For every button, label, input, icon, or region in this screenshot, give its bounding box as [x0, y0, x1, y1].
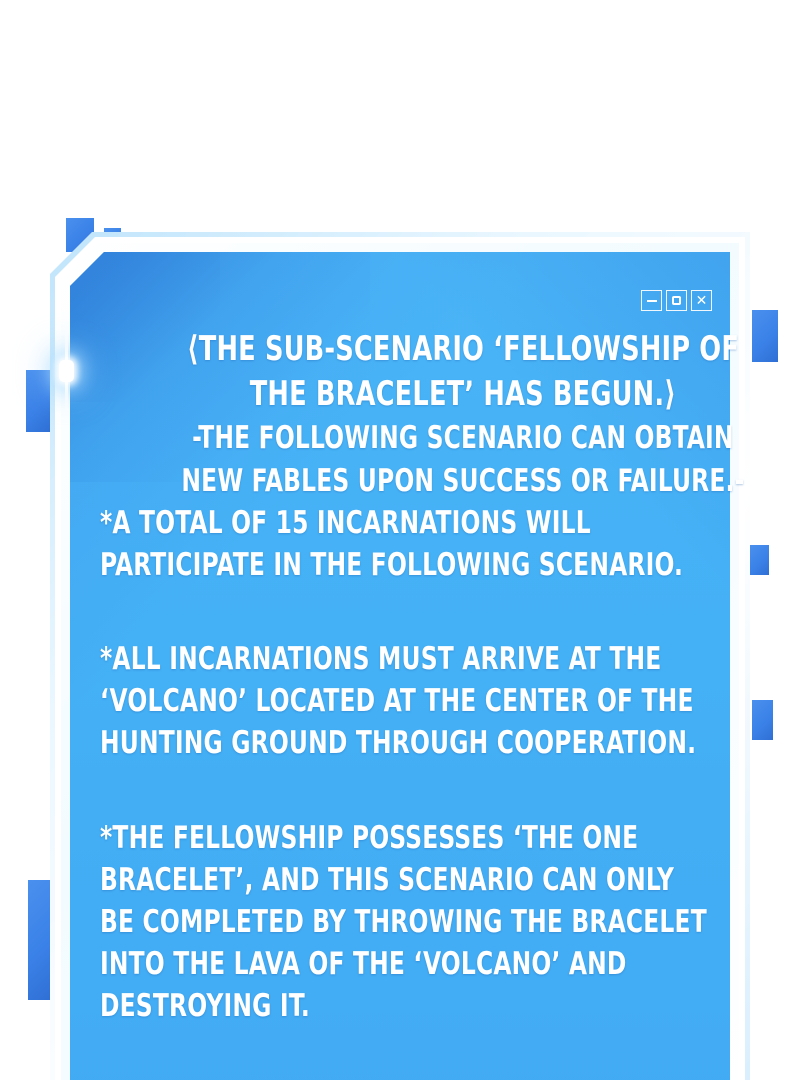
maximize-icon — [672, 296, 681, 305]
decor-tab-right-lower — [752, 700, 773, 740]
decor-tab-left-lower — [28, 880, 52, 1000]
decor-tab-right-mid — [750, 545, 769, 575]
minimize-button[interactable] — [641, 290, 662, 311]
message-bullet: *ALL INCARNATIONS MUST ARRIVE AT THE ‘VO… — [100, 638, 710, 764]
message-body: ⟨THE SUB-SCENARIO ‘FELLOWSHIP OF THE BRA… — [100, 327, 710, 1027]
message-bullet: *A TOTAL OF 15 INCARNATIONS WILL PARTICI… — [100, 502, 710, 586]
close-button[interactable]: ✕ — [691, 290, 712, 311]
window-controls: ✕ — [641, 290, 712, 311]
decor-tab-left-upper — [26, 370, 50, 432]
minimize-icon — [647, 300, 657, 302]
border-glow-node-icon — [59, 360, 74, 382]
hud-notification-screen: ✕ ⟨THE SUB-SCENARIO ‘FELLOWSHIP OF THE B… — [0, 0, 800, 1080]
message-title: ⟨THE SUB-SCENARIO ‘FELLOWSHIP OF THE BRA… — [158, 327, 768, 417]
close-icon: ✕ — [696, 294, 708, 308]
message-note: -THE FOLLOWING SCENARIO CAN OBTAIN NEW F… — [158, 417, 768, 501]
maximize-button[interactable] — [666, 290, 687, 311]
hud-panel: ✕ ⟨THE SUB-SCENARIO ‘FELLOWSHIP OF THE B… — [50, 232, 750, 1080]
message-bullet: *THE FELLOWSHIP POSSESSES ‘THE ONE BRACE… — [100, 817, 710, 1028]
